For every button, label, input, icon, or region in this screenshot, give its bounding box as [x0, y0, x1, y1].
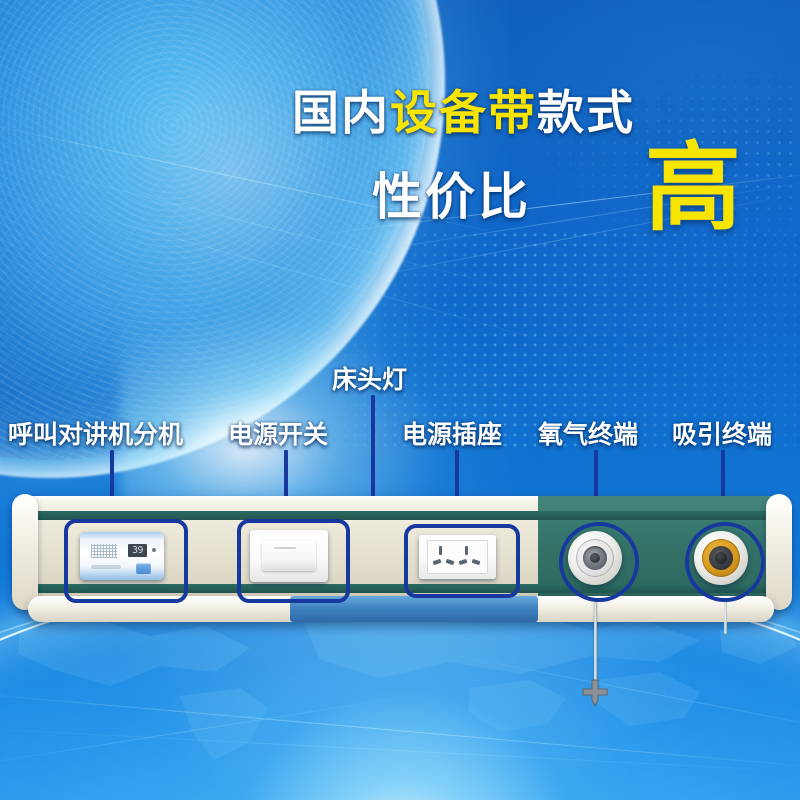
- headline-big-word: 高: [645, 140, 741, 236]
- headline-line-1-part-2: 设备带: [390, 86, 537, 141]
- callout-label-intercom: 呼叫对讲机分机: [8, 415, 183, 451]
- callout-label-oxygen-outlet: 氧气终端: [538, 415, 638, 451]
- headline-line-1: 国内设备带款式: [292, 90, 635, 137]
- callout-label-power-socket: 电源插座: [402, 415, 502, 451]
- highlight-box-intercom: [64, 519, 188, 603]
- highlight-circle-suction: [685, 522, 765, 602]
- pull-cord-handle-icon[interactable]: [578, 676, 612, 710]
- headline-line-2: 性价比: [372, 172, 531, 222]
- callout-label-suction-outlet: 吸引终端: [672, 415, 772, 451]
- highlight-circle-oxygen: [559, 522, 639, 602]
- callout-label-power-switch: 电源开关: [228, 415, 328, 451]
- pull-cord[interactable]: [594, 600, 597, 688]
- callout-label-bed-lamp: 床头灯: [332, 360, 407, 396]
- panel-endcap-left: [12, 494, 38, 610]
- bottom-glow: [170, 630, 640, 800]
- highlight-box-power-socket: [404, 524, 520, 598]
- headline-line-1-part-1: 国内: [292, 86, 390, 141]
- panel-endcap-right: [766, 494, 792, 610]
- poster-canvas: 国内设备带款式 性价比 高 呼叫对讲机分机 电源开关 床头灯 电源插座 氧气终端…: [0, 0, 800, 800]
- pull-cord-secondary[interactable]: [724, 600, 727, 634]
- headline-line-1-part-3: 款式: [537, 86, 635, 141]
- highlight-box-power-switch: [237, 519, 350, 603]
